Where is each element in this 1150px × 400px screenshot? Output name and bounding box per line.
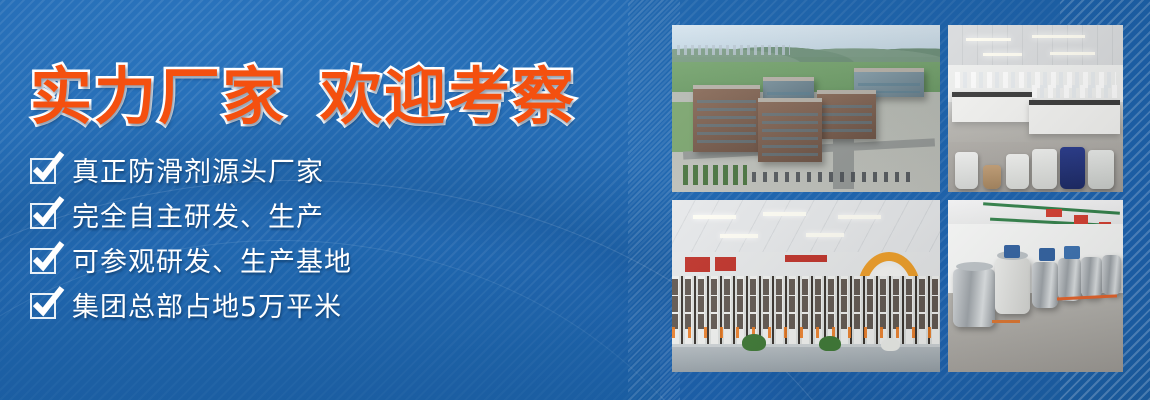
checkbox-checked-icon xyxy=(30,201,58,229)
checkbox-checked-icon xyxy=(30,156,58,184)
headline: 实力厂家 欢迎考察 xyxy=(30,46,576,136)
photo-aerial-campus xyxy=(672,25,940,192)
feature-list: 真正防滑剂源头厂家 完全自主研发、生产 可参观研发、生产基地 xyxy=(30,147,352,327)
photo-grid xyxy=(672,25,1123,372)
list-item-label: 集团总部占地5万平米 xyxy=(72,285,342,324)
list-item-label: 完全自主研发、生产 xyxy=(72,195,324,234)
checkbox-checked-icon xyxy=(30,246,58,274)
headline-part-1: 实力厂家 xyxy=(30,46,286,136)
list-item: 集团总部占地5万平米 xyxy=(30,282,352,327)
checkbox-checked-icon xyxy=(30,291,58,319)
list-item: 可参观研发、生产基地 xyxy=(30,237,352,282)
promo-banner: 实力厂家 欢迎考察 真正防滑剂源头厂家 完全自主研发、生产 xyxy=(0,0,1150,400)
list-item: 完全自主研发、生产 xyxy=(30,192,352,237)
headline-part-2: 欢迎考察 xyxy=(320,46,576,136)
list-item-label: 真正防滑剂源头厂家 xyxy=(72,150,324,189)
photo-laboratory xyxy=(948,25,1123,192)
photo-production-line xyxy=(948,200,1123,372)
photo-office-staff xyxy=(672,200,940,372)
list-item: 真正防滑剂源头厂家 xyxy=(30,147,352,192)
list-item-label: 可参观研发、生产基地 xyxy=(72,240,352,279)
